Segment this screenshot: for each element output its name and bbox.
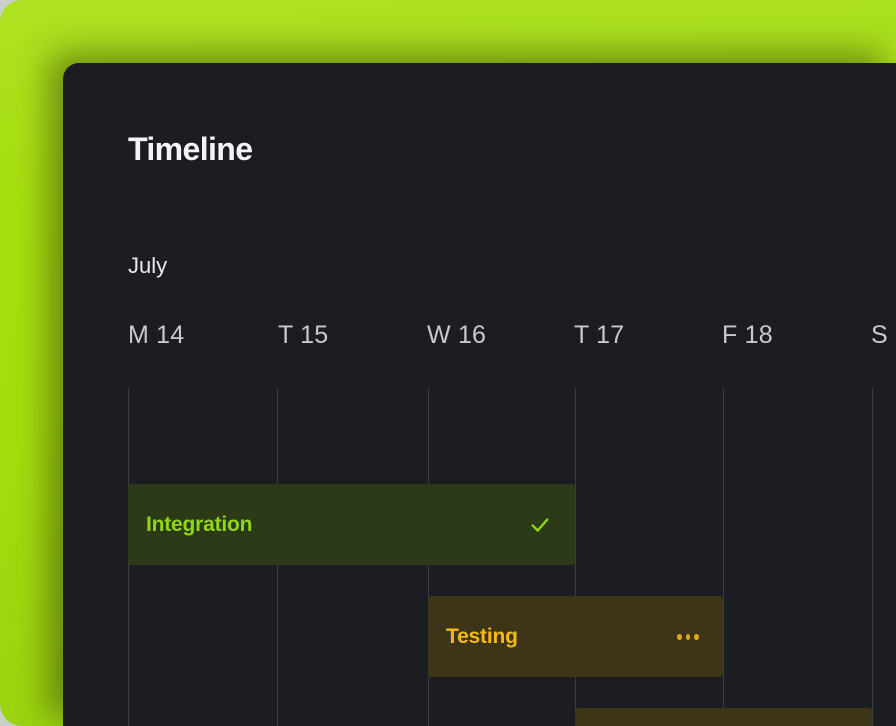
- month-label: July: [128, 253, 167, 279]
- check-icon: [529, 514, 551, 536]
- task-bar[interactable]: Integration: [128, 484, 575, 565]
- day-header-cell: T 15: [278, 321, 328, 350]
- day-header-cell: S: [871, 321, 888, 350]
- page-title: Timeline: [128, 131, 252, 168]
- timeline-panel: Timeline July M 14T 15W 16T 17F 18S Inte…: [63, 63, 896, 726]
- timeline-grid: IntegrationTestingDocumentation: [63, 388, 896, 726]
- day-header-cell: M 14: [128, 321, 184, 350]
- grid-line: [723, 388, 724, 726]
- grid-line: [872, 388, 873, 726]
- day-header-cell: T 17: [574, 321, 624, 350]
- day-header-row: M 14T 15W 16T 17F 18S: [63, 321, 896, 371]
- task-bar-label: Integration: [146, 513, 252, 537]
- day-header-cell: F 18: [722, 321, 773, 350]
- day-header-cell: W 16: [427, 321, 486, 350]
- task-bar[interactable]: Documentation: [575, 708, 872, 726]
- task-bar[interactable]: Testing: [428, 596, 723, 677]
- task-bar-label: Testing: [446, 625, 518, 649]
- ellipsis-icon[interactable]: [675, 633, 701, 641]
